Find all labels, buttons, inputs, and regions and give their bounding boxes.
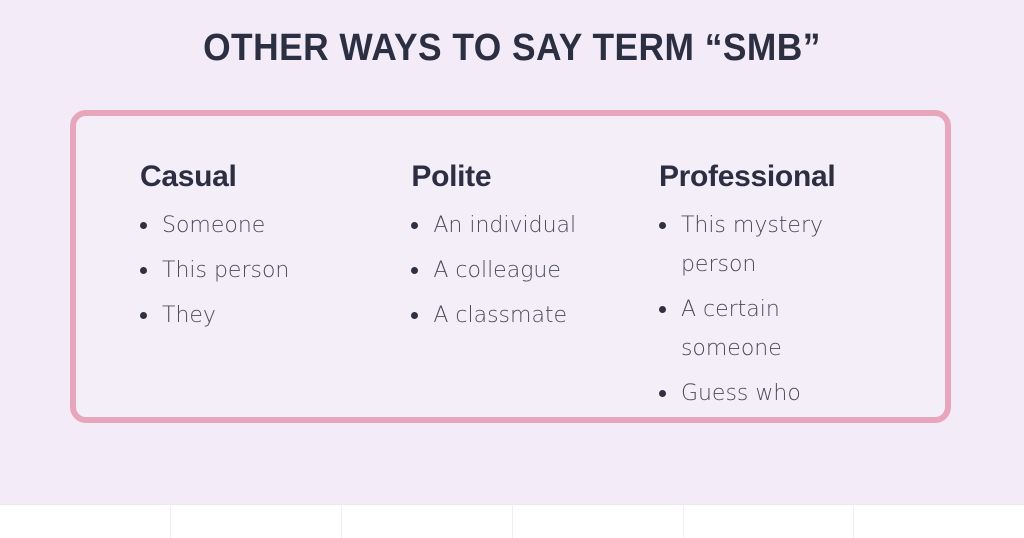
list-item-label: This person [162,258,289,283]
list-item-label: This mystery person [681,213,823,277]
grid-line [683,504,684,538]
bullet-icon [411,222,418,229]
column-professional: Professional This mystery person A certa… [609,116,945,419]
list-item-label: Guess who [681,381,801,406]
column-heading-professional: Professional [659,160,945,194]
page-title: OTHER WAYS TO SAY TERM “SMB” [36,27,988,70]
list-item: Someone [140,206,350,245]
list-item: This mystery person [659,206,856,284]
list-item-label: A certain someone [681,297,782,361]
column-heading-casual: Casual [140,160,350,194]
bullet-icon [140,312,147,319]
grid-line [341,504,342,538]
list-item: Guess who [659,374,856,413]
list-item-label: An individual [433,213,576,238]
grid-line [170,504,171,538]
list-professional: This mystery person A certain someone Gu… [659,206,945,413]
list-item: A certain someone [659,290,856,368]
list-casual: Someone This person They [140,206,350,335]
list-item: A classmate [411,296,609,335]
bullet-icon [411,267,418,274]
column-casual: Casual Someone This person They [76,116,350,341]
list-item-label: A colleague [433,258,561,283]
bullet-icon [659,222,666,229]
grid-line [512,504,513,538]
list-item-label: A classmate [433,303,567,328]
grid-line [853,504,854,538]
list-item: They [140,296,350,335]
bullet-icon [140,222,147,229]
list-item: An individual [411,206,609,245]
list-polite: An individual A colleague A classmate [411,206,609,335]
content-panel: Casual Someone This person They [70,110,951,423]
bullet-icon [659,306,666,313]
bullet-icon [411,312,418,319]
column-heading-polite: Polite [411,160,609,194]
list-item-label: Someone [162,213,265,238]
slide-canvas: OTHER WAYS TO SAY TERM “SMB” Casual Some… [0,0,1024,504]
list-item: A colleague [411,251,609,290]
list-item: This person [140,251,350,290]
column-group: Casual Someone This person They [76,116,945,417]
bottom-grid-strip [0,504,1024,538]
bullet-icon [140,267,147,274]
column-polite: Polite An individual A colleague A class… [350,116,609,341]
bullet-icon [659,390,666,397]
list-item-label: They [162,303,216,328]
